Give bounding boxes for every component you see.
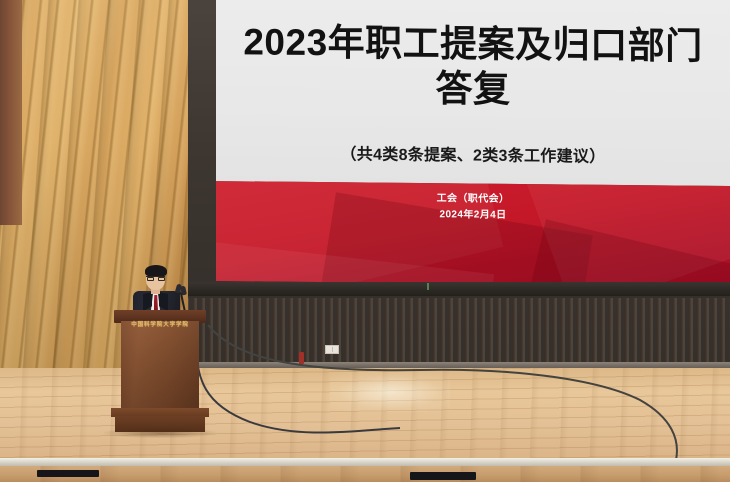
glasses-icon xyxy=(146,276,165,281)
slide-title-line-2: 答复 xyxy=(436,68,511,110)
stage-cable xyxy=(0,300,730,482)
foreground-object xyxy=(37,470,99,477)
auditorium-stage-scene: 2023年职工提案及归口部门 答复 （共4类8条提案、2类3条工作建议） 工会（… xyxy=(0,0,730,482)
podium-body xyxy=(121,321,199,411)
slide-subtitle: （共4类8条提案、2类3条工作建议） xyxy=(216,139,730,168)
stage-front-grain xyxy=(0,466,730,482)
slide-upper-panel: 2023年职工提案及归口部门 答复 （共4类8条提案、2类3条工作建议） xyxy=(216,0,730,186)
screen-power-led xyxy=(427,283,429,290)
podium-inscription: 中国科学院大学学院 xyxy=(121,320,199,328)
stage-front-panel xyxy=(0,466,730,482)
curtain-left-edge xyxy=(0,0,22,225)
slide-title: 2023年职工提案及归口部门 答复 xyxy=(216,19,730,114)
foreground-object xyxy=(410,472,476,480)
microphone-icon xyxy=(180,286,187,296)
slide-title-line-1: 2023年职工提案及归口部门 xyxy=(243,21,702,66)
stage-cabling-group xyxy=(0,300,730,482)
screen-bottom-bezel xyxy=(185,282,730,296)
podium-shadow xyxy=(104,428,216,438)
presentation-screen[interactable]: 2023年职工提案及归口部门 答复 （共4类8条提案、2类3条工作建议） 工会（… xyxy=(216,0,730,286)
